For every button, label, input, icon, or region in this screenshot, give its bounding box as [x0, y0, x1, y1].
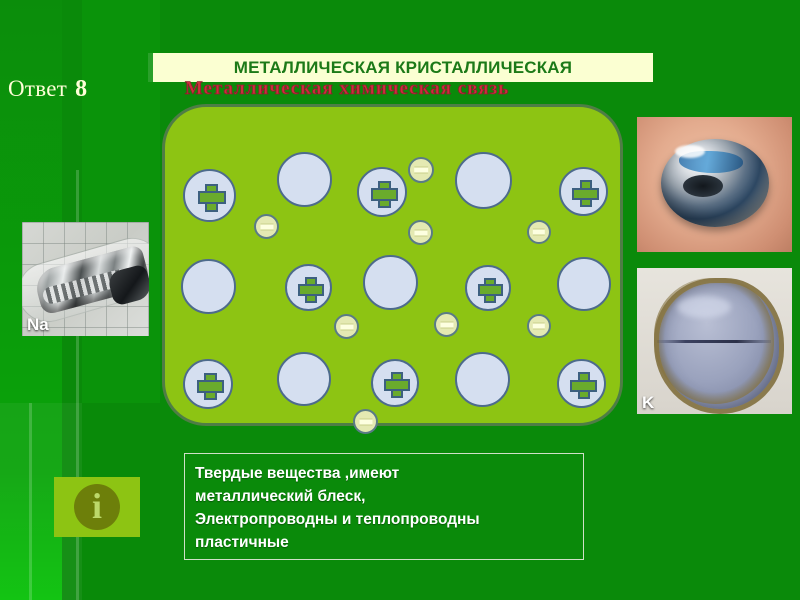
metal-atom	[455, 352, 510, 407]
metal-cation	[183, 359, 233, 409]
photo-caption-potassium: K	[642, 394, 654, 411]
minus-icon	[260, 223, 273, 230]
metal-cation	[559, 167, 608, 216]
photo-potassium: K	[637, 268, 792, 414]
plus-icon	[197, 380, 224, 393]
free-electron	[434, 312, 459, 337]
minus-icon	[414, 229, 427, 236]
free-electron	[408, 220, 433, 245]
minus-icon	[414, 167, 428, 174]
subtitle-heading: Металлическая химическая связь	[112, 78, 582, 100]
minus-icon	[440, 321, 453, 328]
plus-icon	[572, 188, 599, 200]
background-divider-line-2	[29, 403, 32, 600]
page-title: МЕТАЛЛИЧЕСКАЯ КРИСТАЛЛИЧЕСКАЯ	[234, 58, 572, 78]
metal-atom	[557, 257, 611, 311]
metal-cation	[183, 169, 236, 222]
photo-mercury	[637, 117, 792, 252]
free-electron	[527, 220, 551, 244]
plus-icon	[384, 379, 410, 391]
potassium-cut-line	[657, 340, 771, 343]
properties-line: Твердые вещества ,имеют	[195, 462, 583, 485]
properties-line: металлический блеск,	[195, 485, 583, 508]
properties-line: Электропроводны и теплопроводны	[195, 508, 583, 531]
info-badge[interactable]: i	[54, 477, 140, 537]
info-icon-glyph: i	[92, 488, 102, 524]
slide-canvas: Ответ8 МЕТАЛЛИЧЕСКАЯ КРИСТАЛЛИЧЕСКАЯ Мет…	[0, 0, 800, 600]
plus-icon	[570, 380, 597, 392]
mercury-highlight	[675, 145, 705, 158]
answer-number: 8	[75, 76, 87, 102]
answer-label: Ответ8	[8, 76, 87, 103]
answer-label-text: Ответ	[8, 76, 67, 101]
minus-icon	[359, 418, 372, 425]
potassium-metallic-sheen	[677, 296, 731, 318]
free-electron	[527, 314, 551, 338]
free-electron	[408, 157, 434, 183]
metal-cation	[357, 167, 407, 217]
plus-icon	[371, 188, 398, 201]
metal-atom	[363, 255, 418, 310]
minus-icon	[533, 229, 545, 236]
photo-caption-sodium: Na	[27, 316, 49, 333]
metal-cation	[465, 265, 511, 311]
photo-sodium: Na	[22, 222, 149, 336]
metal-cation	[285, 264, 332, 311]
metal-atom	[455, 152, 512, 209]
properties-textbox: Твердые вещества ,имеют металлический бл…	[184, 453, 584, 560]
plus-icon	[298, 284, 324, 296]
free-electron	[254, 214, 279, 239]
plus-icon	[478, 284, 503, 296]
metal-atom	[181, 259, 236, 314]
info-icon: i	[74, 484, 120, 530]
metal-cation	[371, 359, 419, 407]
minus-icon	[340, 323, 353, 330]
free-electron	[334, 314, 359, 339]
properties-line: пластичные	[195, 531, 583, 554]
metal-atom	[277, 152, 332, 207]
minus-icon	[533, 323, 545, 330]
mercury-reflection-dark	[683, 175, 723, 197]
free-electron	[353, 409, 378, 434]
metallic-lattice-diagram	[162, 104, 623, 426]
metal-atom	[277, 352, 331, 406]
plus-icon	[198, 191, 226, 204]
metal-cation	[557, 359, 606, 408]
